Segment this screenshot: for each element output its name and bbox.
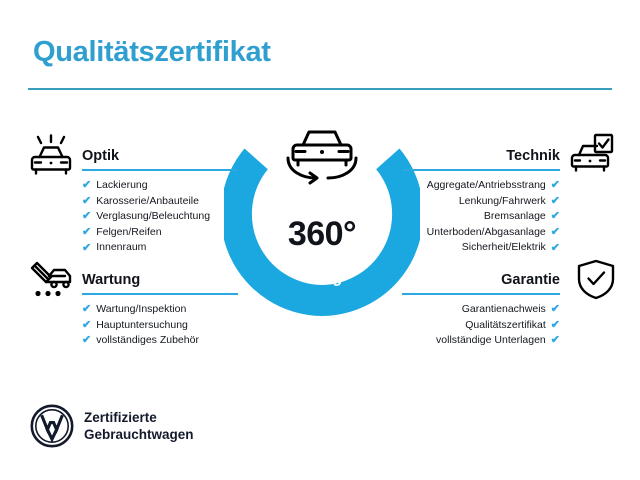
footer-lockup-text: Zertifizierte Gebrauchtwagen: [84, 409, 194, 443]
list-item: vollständige Unterlagen✔: [402, 333, 560, 349]
list-item-label: Wartung/Inspektion: [96, 302, 186, 318]
check-icon: ✔: [82, 243, 91, 254]
section-list-wartung: ✔Wartung/Inspektion ✔Hauptuntersuchung ✔…: [82, 302, 238, 349]
list-item: Sicherheit/Elektrik✔: [402, 240, 560, 256]
section-divider-wartung: [82, 293, 238, 295]
check-icon: ✔: [551, 320, 560, 331]
section-list-technik: Aggregate/Antriebsstrang✔ Lenkung/Fahrwe…: [402, 178, 560, 256]
list-item: ✔Karosserie/Anbauteile: [82, 194, 238, 210]
check-icon: ✔: [82, 335, 91, 346]
check-icon: ✔: [551, 335, 560, 346]
section-divider-garantie: [402, 293, 560, 295]
list-item-label: Hauptuntersuchung: [96, 318, 188, 334]
page-title: Qualitätszertifikat: [33, 36, 271, 69]
list-item: ✔Lackierung: [82, 178, 238, 194]
section-wartung: Wartung ✔Wartung/Inspektion ✔Hauptunters…: [82, 272, 238, 349]
list-item-label: Lenkung/Fahrwerk: [459, 194, 546, 210]
car-checkbox-icon: [567, 132, 615, 176]
section-list-garantie: Garantienachweis✔ Qualitätszertifikat✔ v…: [402, 302, 560, 349]
list-item-label: Qualitätszertifikat: [465, 318, 546, 334]
check-icon: ✔: [551, 180, 560, 191]
car-shine-icon: [27, 134, 75, 178]
list-item-label: Bremsanlage: [484, 209, 546, 225]
list-item: Aggregate/Antriebsstrang✔: [402, 178, 560, 194]
footer-line-1: Zertifizierte: [84, 409, 194, 426]
footer-line-2: Gebrauchtwagen: [84, 426, 194, 443]
list-item-label: Aggregate/Antriebsstrang: [427, 178, 546, 194]
check-icon: ✔: [551, 196, 560, 207]
check-icon: ✔: [82, 304, 91, 315]
section-divider-optik: [82, 169, 238, 171]
list-item: ✔Innenraum: [82, 240, 238, 256]
list-item: ✔vollständiges Zubehör: [82, 333, 238, 349]
check-icon: ✔: [82, 196, 91, 207]
list-item: Bremsanlage✔: [402, 209, 560, 225]
badge-number: 360°: [224, 215, 420, 254]
section-divider-technik: [402, 169, 560, 171]
check-icon: ✔: [82, 180, 91, 191]
vw-logo-icon: [30, 404, 74, 448]
list-item-label: Felgen/Reifen: [96, 225, 161, 241]
list-item: ✔Wartung/Inspektion: [82, 302, 238, 318]
check-icon: ✔: [82, 227, 91, 238]
car-service-book-icon: [27, 258, 75, 302]
list-item-label: Innenraum: [96, 240, 146, 256]
check-icon: ✔: [551, 227, 560, 238]
list-item-label: Sicherheit/Elektrik: [462, 240, 546, 256]
section-title-optik: Optik: [82, 148, 238, 164]
check-icon: ✔: [551, 211, 560, 222]
list-item-label: vollständige Unterlagen: [436, 333, 546, 349]
certificate-page: Qualitätszertifikat: [0, 0, 640, 480]
360-check-badge: Gebrauchtwagen-Check 360°: [224, 112, 420, 316]
section-title-wartung: Wartung: [82, 272, 238, 288]
header-divider: [28, 88, 612, 90]
section-optik: Optik ✔Lackierung ✔Karosserie/Anbauteile…: [82, 148, 238, 256]
list-item: Qualitätszertifikat✔: [402, 318, 560, 334]
check-icon: ✔: [551, 243, 560, 254]
section-title-garantie: Garantie: [402, 272, 560, 288]
list-item: ✔Hauptuntersuchung: [82, 318, 238, 334]
list-item-label: Karosserie/Anbauteile: [96, 194, 199, 210]
list-item: ✔Felgen/Reifen: [82, 225, 238, 241]
list-item-label: Verglasung/Beleuchtung: [96, 209, 210, 225]
shield-check-icon: [572, 258, 620, 302]
section-list-optik: ✔Lackierung ✔Karosserie/Anbauteile ✔Verg…: [82, 178, 238, 256]
list-item-label: Unterboden/Abgasanlage: [427, 225, 546, 241]
list-item-label: Garantienachweis: [462, 302, 546, 318]
check-icon: ✔: [551, 304, 560, 315]
list-item-label: Lackierung: [96, 178, 147, 194]
section-garantie: Garantie Garantienachweis✔ Qualitätszert…: [402, 272, 560, 349]
list-item: Garantienachweis✔: [402, 302, 560, 318]
section-title-technik: Technik: [402, 148, 560, 164]
check-icon: ✔: [82, 320, 91, 331]
section-technik: Technik Aggregate/Antriebsstrang✔ Lenkun…: [402, 148, 560, 256]
list-item: ✔Verglasung/Beleuchtung: [82, 209, 238, 225]
list-item-label: vollständiges Zubehör: [96, 333, 199, 349]
list-item: Unterboden/Abgasanlage✔: [402, 225, 560, 241]
check-icon: ✔: [82, 211, 91, 222]
list-item: Lenkung/Fahrwerk✔: [402, 194, 560, 210]
